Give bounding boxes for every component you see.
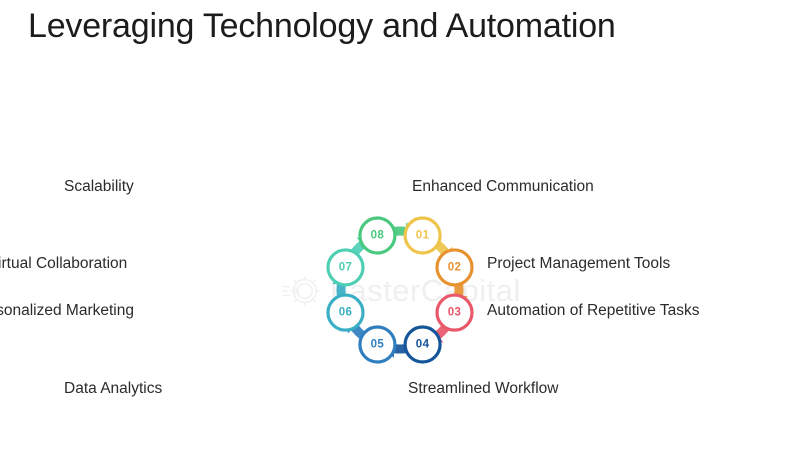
diagram-label-06: Personalized Marketing xyxy=(0,301,134,321)
diagram-label-08: Scalability xyxy=(64,177,134,197)
diagram-label-02: Project Management Tools xyxy=(487,254,670,274)
cycle-node-08: 08 xyxy=(360,218,395,253)
cycle-node-number: 07 xyxy=(339,261,353,273)
cycle-node-06: 06 xyxy=(328,295,363,330)
cycle-node-number: 06 xyxy=(339,307,353,319)
cycle-node-number: 02 xyxy=(448,261,462,273)
page-title: Leveraging Technology and Automation xyxy=(28,4,616,48)
cycle-node-07: 07 xyxy=(328,250,363,285)
diagram-label-07: Virtual Collaboration xyxy=(0,254,127,274)
cycle-node-02: 02 xyxy=(437,250,472,285)
diagram-label-04: Streamlined Workflow xyxy=(408,379,558,399)
cycle-node-number: 04 xyxy=(416,339,430,351)
cycle-node-number: 05 xyxy=(371,339,385,351)
cycle-node-04: 04 xyxy=(405,327,440,362)
cycle-diagram: 0102030405060708 xyxy=(300,190,500,390)
diagram-label-03: Automation of Repetitive Tasks xyxy=(487,301,700,321)
diagram-label-01: Enhanced Communication xyxy=(412,177,594,197)
cycle-node-01: 01 xyxy=(405,218,440,253)
cycle-node-number: 01 xyxy=(416,229,430,241)
cycle-node-number: 08 xyxy=(371,229,385,241)
cycle-node-03: 03 xyxy=(437,295,472,330)
slide-canvas: Leveraging Technology and Automation xyxy=(0,0,800,450)
cycle-node-05: 05 xyxy=(360,327,395,362)
cycle-node-number: 03 xyxy=(448,307,462,319)
diagram-label-05: Data Analytics xyxy=(64,379,162,399)
